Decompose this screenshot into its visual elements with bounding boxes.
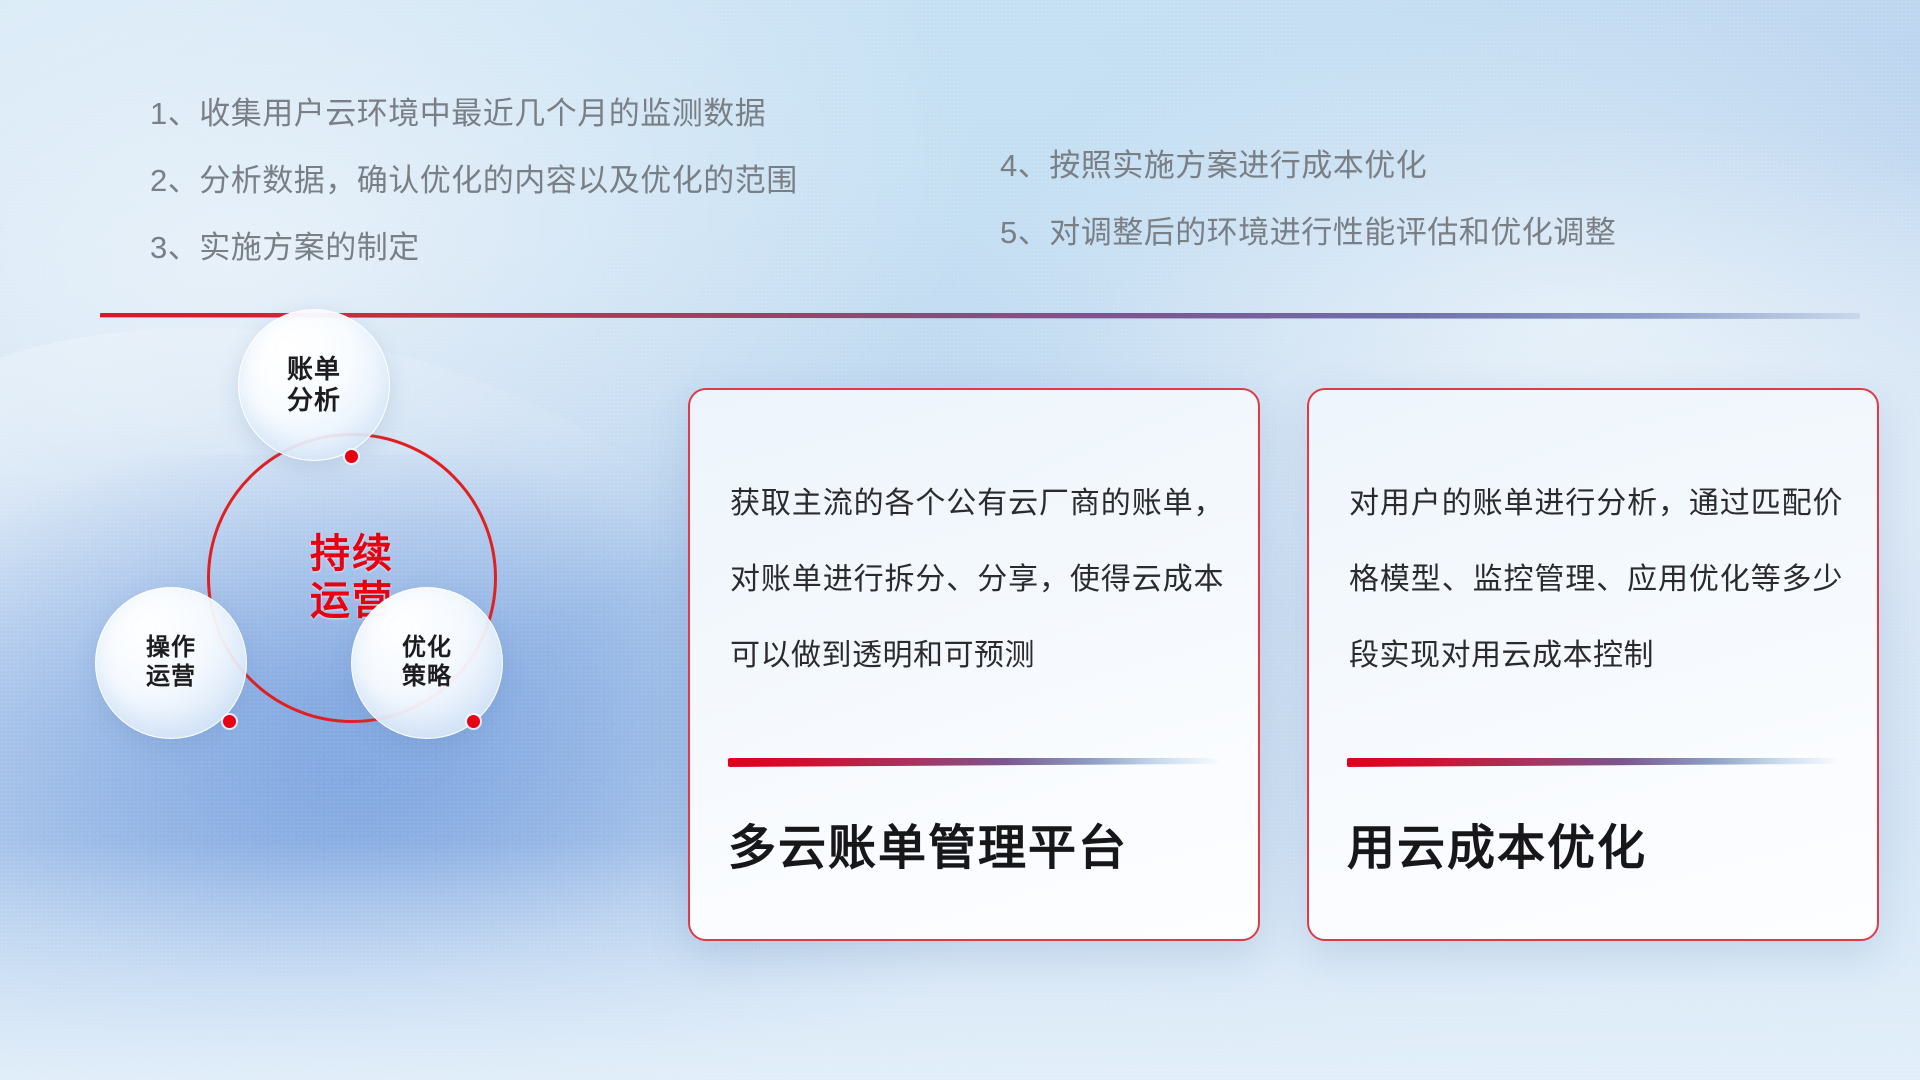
card-1-divider bbox=[728, 758, 1220, 767]
step-item-2: 2、分析数据，确认优化的内容以及优化的范围 bbox=[150, 165, 798, 196]
card-cloud-cost-optimization[interactable]: 对用户的账单进行分析，通过匹配价格模型、监控管理、应用优化等多少段实现对用云成本… bbox=[1307, 388, 1879, 941]
step-item-4: 4、按照实施方案进行成本优化 bbox=[1000, 150, 1616, 181]
diagram-node-dot-bottom-left bbox=[223, 715, 236, 728]
card-2-divider bbox=[1347, 758, 1839, 767]
diagram-node-dot-bottom-right bbox=[467, 715, 480, 728]
step-item-5: 5、对调整后的环境进行性能评估和优化调整 bbox=[1000, 217, 1616, 248]
continuous-operations-diagram: 持续 运营 账单 分析 操作 运营 优化 策略 bbox=[95, 355, 565, 795]
bubble-top-line-2: 分析 bbox=[287, 385, 341, 416]
card-2-title: 用云成本优化 bbox=[1347, 820, 1857, 878]
step-item-3: 3、实施方案的制定 bbox=[150, 232, 798, 263]
steps-column-right: 4、按照实施方案进行成本优化 5、对调整后的环境进行性能评估和优化调整 bbox=[1000, 150, 1616, 248]
step-item-1: 1、收集用户云环境中最近几个月的监测数据 bbox=[150, 98, 798, 129]
diagram-bubble-billing-analysis[interactable]: 账单 分析 bbox=[238, 309, 390, 461]
diagram-bubble-optimization-strategy[interactable]: 优化 策略 bbox=[351, 587, 503, 739]
card-1-body: 获取主流的各个公有云厂商的账单，对账单进行拆分、分享，使得云成本可以做到透明和可… bbox=[730, 466, 1224, 694]
card-1-title: 多云账单管理平台 bbox=[728, 820, 1238, 878]
card-multicloud-billing-platform[interactable]: 获取主流的各个公有云厂商的账单，对账单进行拆分、分享，使得云成本可以做到透明和可… bbox=[688, 388, 1260, 941]
bubble-bottom-left-line-2: 运营 bbox=[146, 663, 196, 692]
diagram-node-dot-top bbox=[345, 450, 358, 463]
card-2-body: 对用户的账单进行分析，通过匹配价格模型、监控管理、应用优化等多少段实现对用云成本… bbox=[1349, 466, 1843, 694]
steps-column-left: 1、收集用户云环境中最近几个月的监测数据 2、分析数据，确认优化的内容以及优化的… bbox=[150, 98, 798, 263]
bubble-bottom-left-line-1: 操作 bbox=[146, 634, 196, 663]
bubble-bottom-right-line-2: 策略 bbox=[402, 663, 452, 692]
bubble-top-line-1: 账单 bbox=[287, 354, 341, 385]
bubble-bottom-right-line-1: 优化 bbox=[402, 634, 452, 663]
